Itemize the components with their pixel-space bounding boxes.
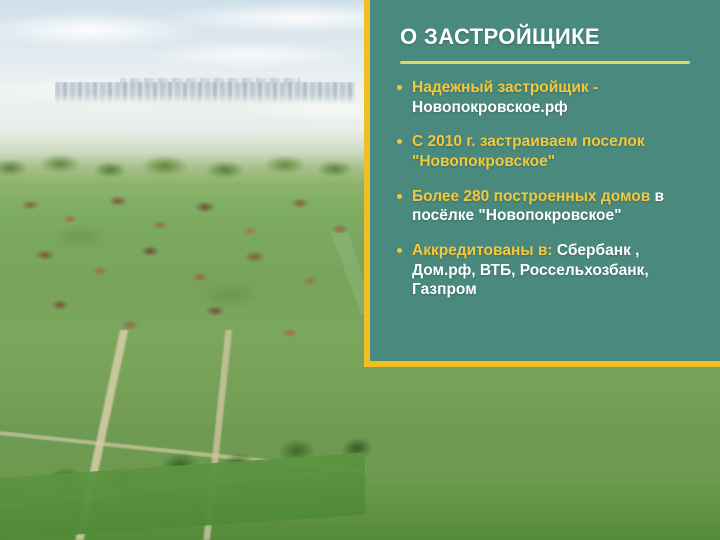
feature-list: Надежный застройщик - Новопокровское.рф …: [396, 78, 704, 300]
promo-slide: VITO О ЗАСТРОЙЩИКЕ Надежный застройщик -…: [0, 0, 720, 540]
bullet-highlight-text: Более 280 построенных домов: [412, 188, 650, 205]
page-title: О ЗАСТРОЙЩИКЕ: [400, 24, 704, 50]
bullet-highlight-text: С 2010 г. застраиваем поселок "Новопокро…: [412, 133, 645, 170]
title-divider: [400, 61, 690, 64]
bullet-highlight-text: Аккредитованы в:: [412, 242, 553, 259]
info-panel: О ЗАСТРОЙЩИКЕ Надежный застройщик - Ново…: [364, 0, 720, 367]
bullet-plain-text: Новопокровское.рф: [412, 99, 568, 116]
list-item: Более 280 построенных домов в посёлке "Н…: [396, 187, 704, 226]
list-item: С 2010 г. застраиваем поселок "Новопокро…: [396, 132, 704, 171]
list-item: Аккредитованы в: Сбербанк , Дом.рф, ВТБ,…: [396, 241, 704, 300]
bullet-highlight-text: Надежный застройщик -: [412, 79, 598, 96]
distant-skyline-highrises: [55, 82, 355, 104]
treeline: [0, 150, 370, 184]
list-item: Надежный застройщик - Новопокровское.рф: [396, 78, 704, 117]
